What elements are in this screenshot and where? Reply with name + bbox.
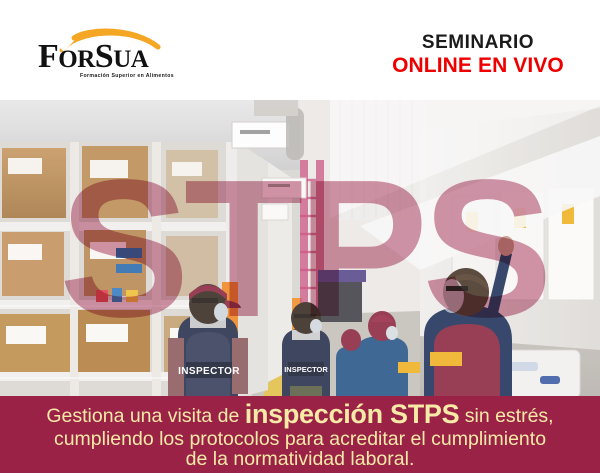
seminar-poster: FORSUA Formación Superior en Alimentos S… xyxy=(0,0,600,473)
headline-line-1: Gestiona una visita de inspección STPS s… xyxy=(46,400,553,429)
headline-line-1-post: sin estrés, xyxy=(465,405,554,427)
stps-watermark: STPS xyxy=(0,100,600,398)
seminar-mode-label: ONLINE EN VIVO xyxy=(378,54,578,77)
headline-line-3: de la normatividad laboral. xyxy=(186,449,415,470)
logo-tagline: Formación Superior en Alimentos xyxy=(80,73,174,79)
forsua-logo: FORSUA Formación Superior en Alimentos xyxy=(38,26,188,82)
warehouse-photo: INSPECTOR INSPECTOR xyxy=(0,100,600,398)
logo-letters-ua: UA xyxy=(113,46,148,73)
logo-letter-s: S xyxy=(95,38,113,75)
headline-line-1-pre: Gestiona una visita de xyxy=(46,405,239,427)
headline-line-2: cumpliendo los protocolos para acreditar… xyxy=(54,429,546,450)
poster-header: FORSUA Formación Superior en Alimentos S… xyxy=(0,0,600,100)
logo-wordmark: FORSUA xyxy=(38,40,148,74)
seminar-heading: SEMINARIO ONLINE EN VIVO xyxy=(378,33,578,77)
headline-emphasis: inspección STPS xyxy=(245,399,460,429)
logo-letter-f: F xyxy=(38,38,58,75)
logo-letters-or: OR xyxy=(58,46,95,73)
headline-banner: Gestiona una visita de inspección STPS s… xyxy=(0,396,600,473)
seminar-label: SEMINARIO xyxy=(378,33,578,54)
